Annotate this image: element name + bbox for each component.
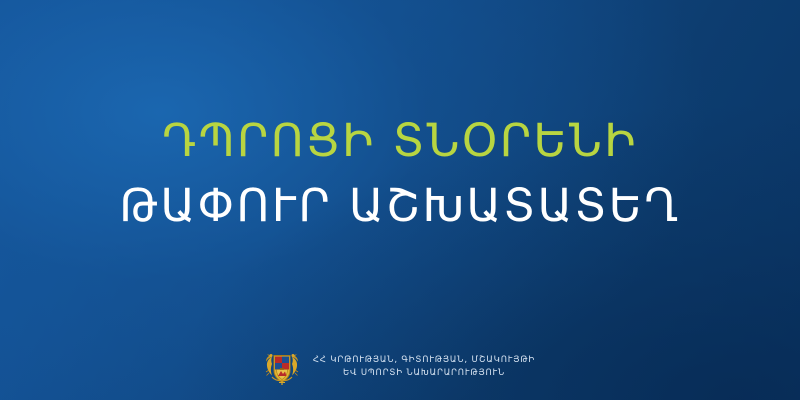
headline-line-primary: ԴՊՐՈՑԻ ՏՆՕՐԵՆԻ bbox=[0, 118, 800, 163]
armenia-coat-of-arms-icon bbox=[265, 348, 299, 386]
ministry-lockup: ՀՀ ԿՐԹՈՒԹՅԱՆ, ԳԻՏՈՒԹՅԱՆ, ՄՇԱԿՈՒՅԹԻ ԵՎ ՍՊ… bbox=[0, 348, 800, 386]
announcement-banner: ԴՊՐՈՑԻ ՏՆՕՐԵՆԻ ԹԱՓՈՒՐ ԱՇԽԱՏԱՏԵՂ bbox=[0, 0, 800, 400]
ministry-name-line-2: ԵՎ ՍՊՈՐՏԻ ՆԱԽԱՐԱՐՈՒԹՅՈՒՆ bbox=[313, 367, 535, 380]
headline-line-secondary: ԹԱՓՈՒՐ ԱՇԽԱՏԱՏԵՂ bbox=[0, 183, 800, 228]
headline-block: ԴՊՐՈՑԻ ՏՆՕՐԵՆԻ ԹԱՓՈՒՐ ԱՇԽԱՏԱՏԵՂ bbox=[0, 118, 800, 228]
ministry-name: ՀՀ ԿՐԹՈՒԹՅԱՆ, ԳԻՏՈՒԹՅԱՆ, ՄՇԱԿՈՒՅԹԻ ԵՎ ՍՊ… bbox=[313, 354, 535, 380]
ministry-name-line-1: ՀՀ ԿՐԹՈՒԹՅԱՆ, ԳԻՏՈՒԹՅԱՆ, ՄՇԱԿՈՒՅԹԻ bbox=[313, 354, 535, 367]
